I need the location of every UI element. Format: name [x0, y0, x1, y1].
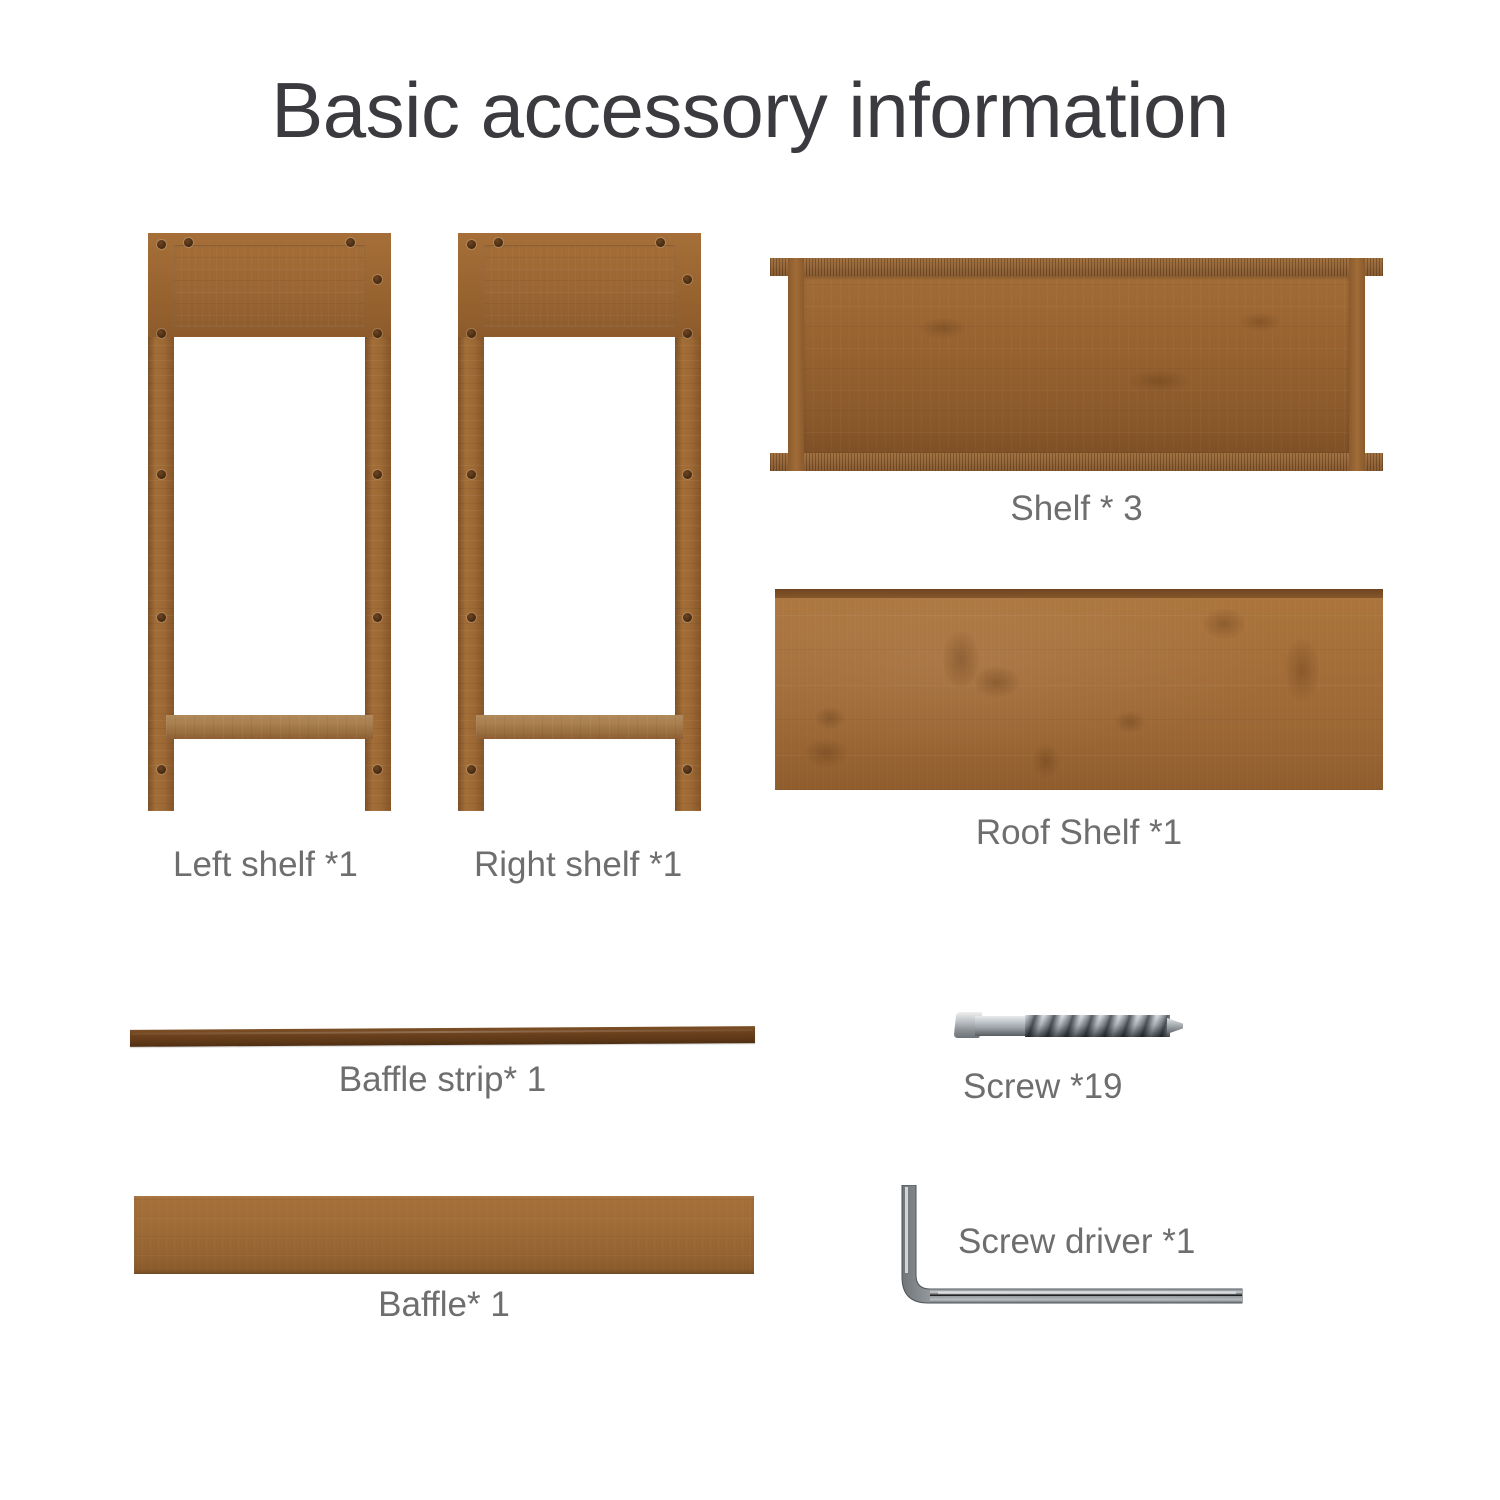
screw-hole	[467, 765, 476, 774]
right-shelf-head-panel	[458, 233, 701, 337]
shelf-top-lip	[770, 258, 1383, 276]
screw-hole	[157, 765, 166, 774]
left-shelf-head-inset	[174, 245, 365, 327]
right-shelf-cross-brace	[476, 715, 683, 739]
screw-hole	[683, 613, 692, 622]
screw-hole	[467, 470, 476, 479]
wood-grain-knot	[815, 707, 845, 729]
screw-hole	[494, 238, 503, 247]
screw-hole	[467, 613, 476, 622]
right-shelf-head-inset	[484, 245, 675, 327]
screw-threads	[1025, 1015, 1170, 1037]
shelf-left-edge	[788, 258, 804, 471]
shelf-right-edge	[1349, 258, 1365, 471]
left-shelf-head-panel	[148, 233, 391, 337]
part-baffle-strip-image	[130, 1026, 755, 1047]
screw-hole	[683, 470, 692, 479]
page-title: Basic accessory information	[0, 62, 1500, 158]
wood-grain-knot	[920, 318, 966, 338]
shelf-face	[804, 276, 1349, 453]
screw-hole	[683, 765, 692, 774]
screw-hole	[157, 240, 166, 249]
screw-hole	[346, 238, 355, 247]
part-shelf-image	[770, 258, 1383, 471]
screw-hole	[683, 275, 692, 284]
screw-hole	[656, 238, 665, 247]
screw-tip	[1167, 1018, 1183, 1034]
part-baffle-image	[134, 1196, 754, 1274]
part-roof-shelf-label: Roof Shelf *1	[775, 811, 1383, 855]
baffle-strip-highlight	[132, 1029, 753, 1035]
wood-grain-knot	[805, 739, 847, 767]
screw-hole	[157, 329, 166, 338]
screw-hole	[373, 765, 382, 774]
part-screw-label: Screw *19	[963, 1065, 1223, 1109]
wood-grain-knot	[1285, 639, 1319, 701]
wood-grain-knot	[1033, 744, 1059, 778]
part-screw-image	[955, 1010, 1187, 1044]
screw-hole	[157, 470, 166, 479]
part-right-shelf-label: Right shelf *1	[474, 843, 734, 887]
screw-hole	[373, 613, 382, 622]
roof-shelf-top-edge	[775, 589, 1383, 598]
left-shelf-cross-brace	[166, 715, 373, 739]
wood-grain-knot	[1130, 370, 1188, 392]
part-right-shelf-image	[458, 233, 701, 811]
screw-hole	[184, 238, 193, 247]
screw-hole	[683, 329, 692, 338]
wood-grain-knot	[1203, 609, 1245, 639]
screw-hole	[373, 329, 382, 338]
part-roof-shelf-image	[775, 589, 1383, 790]
wood-grain-knot	[975, 667, 1019, 697]
part-baffle-strip-label: Baffle strip* 1	[130, 1058, 755, 1102]
screw-hole	[157, 613, 166, 622]
part-left-shelf-label: Left shelf *1	[173, 843, 413, 887]
screw-hole	[373, 470, 382, 479]
part-left-shelf-image	[148, 233, 391, 811]
wood-grain-knot	[943, 631, 979, 687]
part-shelf-label: Shelf * 3	[770, 487, 1383, 531]
screw-hole	[467, 329, 476, 338]
part-baffle-label: Baffle* 1	[134, 1283, 754, 1327]
accessory-information-page: Basic accessory information Left shelf *…	[0, 0, 1500, 1500]
shelf-bottom-lip	[770, 453, 1383, 471]
screw-shank	[975, 1016, 1029, 1036]
part-screw-driver-label: Screw driver *1	[958, 1220, 1258, 1264]
screw-hole	[467, 240, 476, 249]
wood-grain-knot	[1115, 711, 1145, 733]
wood-grain-knot	[1240, 313, 1280, 331]
screw-hole	[373, 275, 382, 284]
